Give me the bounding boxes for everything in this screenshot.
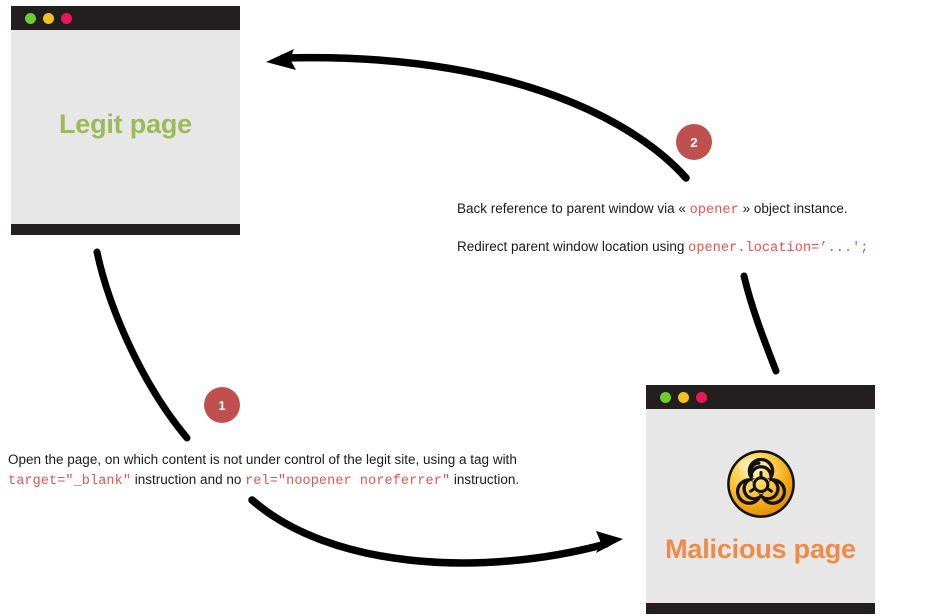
- malicious-window-titlebar: [646, 385, 875, 409]
- legit-page-window[interactable]: Legit page: [11, 6, 240, 235]
- arrow-step2-to-legit-page: [266, 49, 686, 178]
- malicious-page-window[interactable]: Malicious page: [646, 385, 875, 614]
- minimize-dot[interactable]: [25, 13, 36, 24]
- diagram-canvas: Legit page: [0, 0, 936, 616]
- minimize-dot[interactable]: [660, 392, 671, 403]
- code-target-blank: target="_blank": [8, 474, 131, 489]
- malicious-window-viewport: Malicious page: [647, 410, 874, 603]
- backreference-caption: Back reference to parent window via « op…: [457, 198, 848, 221]
- redirect-pre: Redirect parent window location using: [457, 239, 688, 254]
- code-rel-noopener: rel="noopener noreferrer": [245, 474, 450, 489]
- backref-pre: Back reference to parent window via «: [457, 201, 690, 216]
- arrow-step1-to-malicious-page: [252, 500, 623, 563]
- biohazard-icon: [725, 448, 797, 520]
- step1-mid-a: instruction and no: [131, 472, 245, 487]
- step-badge-2[interactable]: 2: [676, 124, 712, 160]
- step1-caption-line1: Open the page, on which content is not u…: [8, 450, 519, 470]
- maximize-dot[interactable]: [43, 13, 54, 24]
- backref-post: » object instance.: [739, 201, 848, 216]
- maximize-dot[interactable]: [678, 392, 689, 403]
- close-dot[interactable]: [696, 392, 707, 403]
- step1-caption: Open the page, on which content is not u…: [8, 450, 519, 492]
- close-dot[interactable]: [61, 13, 72, 24]
- redirect-caption: Redirect parent window location using op…: [457, 236, 869, 259]
- malicious-window-statusbar: [646, 603, 875, 614]
- step1-caption-line2: target="_blank" instruction and no rel="…: [8, 470, 519, 492]
- connector-legit-page-to-step1: [97, 252, 187, 438]
- step1-mid-b: instruction.: [450, 472, 519, 487]
- code-opener: opener: [690, 203, 739, 218]
- legit-page-label: Legit page: [59, 109, 192, 140]
- connector-redirect-to-malicious-page: [744, 276, 776, 371]
- legit-window-titlebar: [11, 6, 240, 30]
- code-opener-location: opener.location=’...';: [688, 241, 868, 256]
- malicious-page-label: Malicious page: [665, 534, 856, 565]
- legit-window-statusbar: [11, 224, 240, 235]
- step-badge-1[interactable]: 1: [204, 387, 240, 423]
- legit-window-viewport: Legit page: [12, 31, 239, 224]
